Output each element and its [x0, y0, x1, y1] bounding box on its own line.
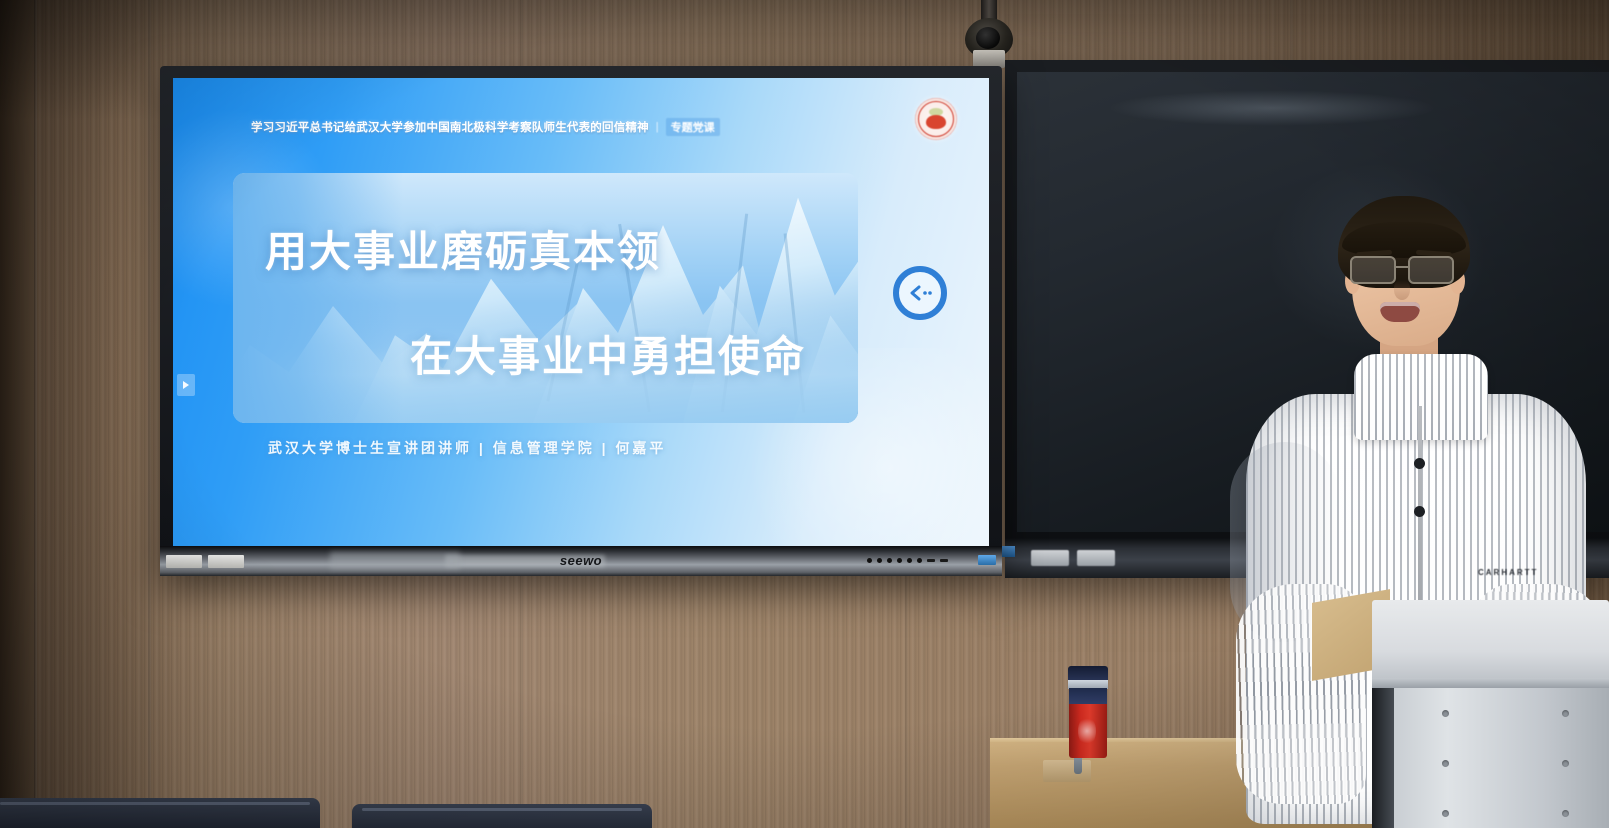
- lectern-hole: [1562, 710, 1569, 717]
- glasses-lens: [1350, 256, 1396, 284]
- lectern-hole: [1562, 760, 1569, 767]
- wall-left-shadow: [0, 0, 180, 828]
- port-icon: [887, 558, 892, 563]
- presentation-slide[interactable]: 学习习近平总书记给武汉大学参加中国南北极科学考察队师生代表的回信精神 | 专题党…: [173, 78, 989, 548]
- mountain-fade: [233, 173, 403, 423]
- panel-port-row[interactable]: [867, 558, 948, 563]
- port-icon: [867, 558, 872, 563]
- classroom-scene: 学习习近平总书记给武汉大学参加中国南北极科学考察队师生代表的回信精神 | 专题党…: [0, 0, 1609, 828]
- port-icon: [897, 558, 902, 563]
- bezel-sticker: [1077, 550, 1115, 566]
- jacket-brand-label: CARHARTT: [1478, 568, 1538, 577]
- university-emblem-icon: [915, 98, 957, 140]
- emblem-core: [926, 115, 946, 129]
- lectern-body: [1394, 688, 1609, 828]
- port-icon: [917, 558, 922, 563]
- lectern: [1372, 600, 1609, 828]
- power-led-icon: [978, 555, 996, 565]
- port-icon: [940, 559, 948, 562]
- back-arrow-icon[interactable]: [893, 266, 947, 320]
- lectern-hole: [1442, 760, 1449, 767]
- lectern-hole: [1562, 810, 1569, 817]
- seewo-brand-label: seewo: [560, 553, 602, 568]
- play-icon: [183, 381, 189, 389]
- port-icon: [927, 559, 935, 562]
- slide-title-line-2: 在大事业中勇担使命: [410, 323, 806, 384]
- glasses-bridge: [1396, 266, 1410, 268]
- seewo-interactive-panel[interactable]: 学习习近平总书记给武汉大学参加中国南北极科学考察队师生代表的回信精神 | 专题党…: [160, 66, 1002, 576]
- slide-subtitle: 武汉大学博士生宣讲团讲师 | 信息管理学院 | 何嘉平: [268, 438, 666, 458]
- thermos-label-art: [1078, 716, 1096, 746]
- port-icon: [907, 558, 912, 563]
- lectern-top: [1372, 600, 1609, 686]
- lectern-top-edge: [1372, 678, 1609, 688]
- slide-header: 学习习近平总书记给武汉大学参加中国南北极科学考察队师生代表的回信精神 | 专题党…: [251, 116, 919, 138]
- slide-header-tag: 专题党课: [666, 118, 720, 136]
- panel-bottom-bezel: seewo: [160, 546, 1002, 576]
- thermos-bottle: [1068, 666, 1108, 758]
- slide-title-line-1: 用大事业磨砺真本领: [265, 218, 661, 279]
- bezel-sticker: [166, 555, 202, 568]
- jacket-snap-button: [1414, 506, 1425, 517]
- pen-tray: [1043, 760, 1091, 782]
- audience-chair-back: [352, 804, 652, 828]
- screen-glare: [1107, 90, 1437, 126]
- glasses-lens: [1408, 256, 1454, 284]
- bezel-sticker: [1031, 550, 1069, 566]
- slide-header-title: 学习习近平总书记给武汉大学参加中国南北极科学考察队师生代表的回信精神: [251, 119, 649, 135]
- bezel-sticker: [208, 555, 244, 568]
- bezel-text-blur: [330, 552, 460, 569]
- lectern-side-shadow: [1372, 688, 1396, 828]
- chair-highlight: [362, 808, 642, 811]
- chair-highlight: [0, 802, 310, 805]
- panel-screen[interactable]: 学习习近平总书记给武汉大学参加中国南北极科学考察队师生代表的回信精神 | 专题党…: [173, 78, 989, 548]
- lectern-hole: [1442, 810, 1449, 817]
- slide-play-tab[interactable]: [177, 374, 195, 396]
- lectern-hole: [1442, 710, 1449, 717]
- audience-chair-back: [0, 798, 320, 828]
- camera-lens: [976, 27, 1000, 49]
- glasses-icon: [1348, 256, 1464, 286]
- presenter-mouth: [1380, 302, 1420, 322]
- jacket-snap-button: [1414, 458, 1425, 469]
- slide-header-separator: |: [656, 121, 659, 133]
- mountain-photo: [233, 173, 858, 423]
- port-icon: [877, 558, 882, 563]
